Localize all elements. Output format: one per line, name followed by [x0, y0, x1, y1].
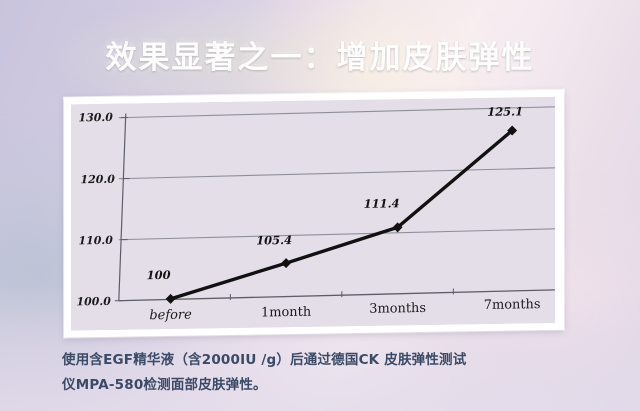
x-tick-label-1month: 1month: [261, 305, 311, 321]
chart-plot-area: 130.0 120.0 110.0 100.0 before 1month 3m…: [71, 97, 555, 331]
caption-block: 使用含EGF精华液（含2000IU /g）后通过德国CK 皮肤弹性测试 仪MPA…: [62, 348, 582, 398]
y-tick-label-100: 100.0: [77, 295, 112, 309]
x-tick-label-3months: 3months: [369, 301, 426, 317]
line-chart-svg: 130.0 120.0 110.0 100.0 before 1month 3m…: [71, 97, 555, 331]
chart-container: 130.0 120.0 110.0 100.0 before 1month 3m…: [64, 90, 564, 338]
data-label-7months: 125.1: [487, 104, 523, 119]
x-tick-label-before: before: [149, 308, 192, 324]
y-tick-label-130: 130.0: [79, 111, 114, 125]
y-tick-label-110: 110.0: [79, 234, 114, 248]
chart-card-frame: 130.0 120.0 110.0 100.0 before 1month 3m…: [64, 90, 564, 338]
data-label-3months: 111.4: [364, 196, 400, 211]
y-tick-label-120: 120.0: [81, 173, 116, 187]
slide-canvas: 效果显著之一：增加皮肤弹性: [0, 0, 640, 411]
page-title: 效果显著之一：增加皮肤弹性: [0, 32, 640, 77]
x-tick-label-7months: 7months: [484, 297, 541, 313]
data-label-before: 100: [147, 268, 171, 282]
data-label-1month: 105.4: [256, 233, 292, 248]
caption-line-1: 使用含EGF精华液（含2000IU /g）后通过德国CK 皮肤弹性测试: [62, 348, 582, 373]
caption-line-2: 仪MPA-580检测面部皮肤弹性。: [62, 373, 582, 398]
